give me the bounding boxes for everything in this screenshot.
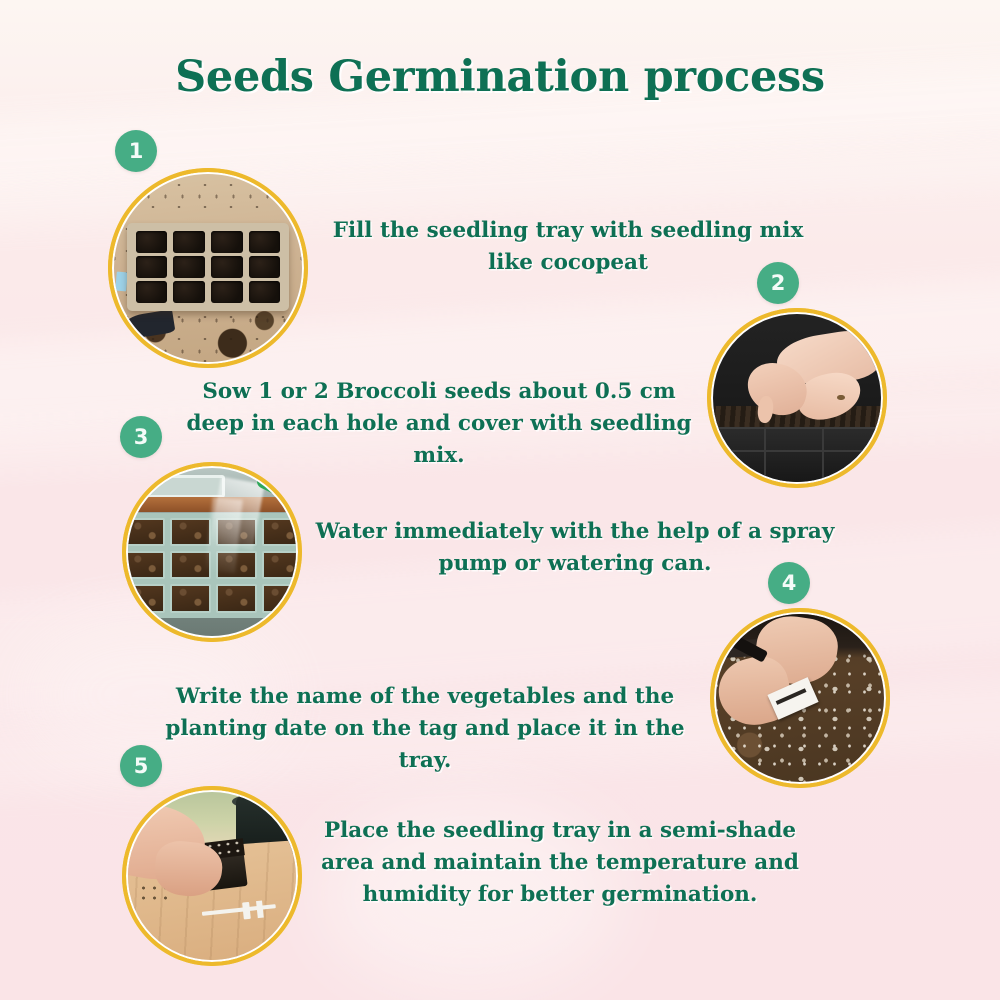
- tray-cell: [262, 551, 296, 579]
- blue-tag-shape: [115, 271, 128, 291]
- step-badge-4: 4: [768, 562, 810, 604]
- step-number-5: 5: [134, 754, 149, 778]
- tray-cell: [249, 281, 280, 303]
- tray-cell: [262, 584, 296, 612]
- plant-label: [256, 900, 264, 917]
- background-tray: [138, 475, 225, 499]
- tray-divider: [822, 429, 824, 482]
- seed-shape: [837, 395, 845, 400]
- step-caption-3-text: Water immediately with the help of a spr…: [316, 519, 835, 576]
- page-title: Seeds Germination process: [0, 52, 1000, 102]
- tray-cell: [128, 518, 165, 546]
- spraying-water-on-tray-photo: [122, 462, 302, 642]
- step-caption-3: Water immediately with the help of a spr…: [300, 516, 850, 580]
- scene-tray-cocopeat: [114, 174, 302, 362]
- step-badge-3: 3: [120, 416, 162, 458]
- scene-tray-on-bench: [128, 792, 296, 960]
- step-number-2: 2: [771, 271, 786, 295]
- step-caption-1: Fill the seedling tray with seedling mix…: [318, 215, 818, 279]
- step-caption-1-text: Fill the seedling tray with seedling mix…: [333, 218, 804, 275]
- photo-inner: [716, 614, 884, 782]
- step-caption-5-text: Place the seedling tray in a semi-shade …: [321, 818, 799, 907]
- step-caption-5: Place the seedling tray in a semi-shade …: [310, 815, 810, 910]
- photo-inner: [114, 174, 302, 362]
- tray-cell: [136, 231, 167, 253]
- tray-cell: [173, 281, 204, 303]
- step-badge-5: 5: [120, 745, 162, 787]
- black-seedling-tray: [713, 427, 881, 482]
- step-caption-4: Write the name of the vegetables and the…: [145, 681, 705, 776]
- tray-cell: [128, 551, 165, 579]
- tray-cell: [211, 281, 242, 303]
- tray-cell: [136, 256, 167, 278]
- tray-cell: [249, 231, 280, 253]
- scene-hands-sowing: [713, 314, 881, 482]
- seedling-tray-filled-with-cocopeat-photo: [108, 168, 308, 368]
- seedling-tray-12-cells: [127, 223, 289, 311]
- writing-on-plant-tag-photo: [710, 608, 890, 788]
- photo-inner: [128, 792, 296, 960]
- tray-divider: [764, 429, 766, 482]
- photo-inner: [128, 468, 296, 636]
- tray-cell: [216, 584, 257, 612]
- tray-cell: [173, 231, 204, 253]
- tag-writing: [776, 688, 806, 705]
- tray-cell: [173, 256, 204, 278]
- tray-cell: [211, 256, 242, 278]
- infographic-page: Seeds Germination process: [0, 0, 1000, 1000]
- scene-writing-tag: [716, 614, 884, 782]
- step-caption-2: Sow 1 or 2 Broccoli seeds about 0.5 cm d…: [184, 376, 694, 471]
- step-caption-2-text: Sow 1 or 2 Broccoli seeds about 0.5 cm d…: [186, 379, 691, 468]
- step-badge-1: 1: [115, 130, 157, 172]
- tray-cell: [170, 518, 211, 546]
- placing-tray-in-semi-shade-photo: [122, 786, 302, 966]
- photo-inner: [713, 314, 881, 482]
- step-badge-2: 2: [757, 262, 799, 304]
- tray-cell: [136, 281, 167, 303]
- tray-cell: [262, 518, 296, 546]
- tray-cell: [211, 231, 242, 253]
- step-number-3: 3: [134, 425, 149, 449]
- tray-cell: [249, 256, 280, 278]
- step-caption-4-text: Write the name of the vegetables and the…: [165, 684, 684, 773]
- tray-cell: [128, 584, 165, 612]
- step-number-4: 4: [782, 571, 797, 595]
- tray-cell: [170, 584, 211, 612]
- hands-sowing-seeds-photo: [707, 308, 887, 488]
- step-number-1: 1: [129, 139, 144, 163]
- scene-spray-watering: [128, 468, 296, 636]
